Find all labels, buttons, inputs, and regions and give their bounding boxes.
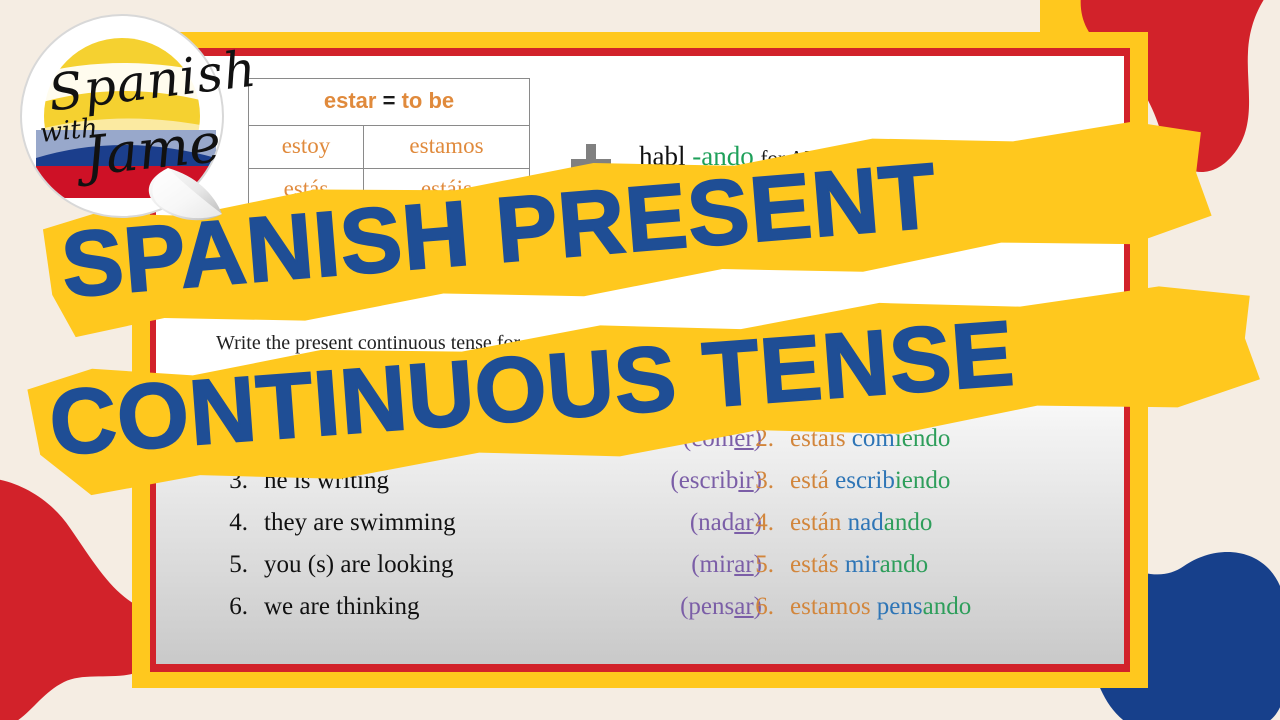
exercise-number: 1. [202, 376, 264, 418]
exercise-number: 5. [202, 544, 264, 586]
table-row: estoy estamos [249, 126, 530, 169]
answer-text: estás mirando [790, 544, 928, 586]
table-header-row: estar = to be [249, 79, 530, 126]
gerund-rule-text: for AR verbs [760, 146, 869, 170]
list-item: 3. he is writing (escribir) [202, 460, 762, 502]
answer-aux: estás [790, 551, 839, 578]
answer-text: estáis comiendo [790, 418, 950, 460]
list-item: 6. estamos pensando [732, 586, 1112, 628]
list-item: 5. you (s) are looking (mirar) [202, 544, 762, 586]
answer-text: está escribiendo [790, 460, 950, 502]
exercise-number: 2. [202, 418, 264, 460]
table-row: está están [249, 212, 530, 255]
worksheet-sheet: estar = to be estoy estamos estás estáis… [156, 56, 1124, 664]
channel-logo-sticker[interactable]: Spanish with Jame [18, 8, 240, 240]
answer-ending: iendo [895, 425, 951, 452]
exercise-english: we are thinking [264, 586, 680, 628]
exercise-english: I am talking [264, 376, 683, 418]
answer-number: 2. [732, 418, 790, 460]
estar-header-cell: estar = to be [249, 79, 530, 126]
list-item: 4. they are swimming (nadar) [202, 502, 762, 544]
gerund-rules: habl -ando for AR verbs com -iendo for E… [639, 136, 913, 220]
list-item: 1. estoy hablando [732, 376, 1112, 418]
answer-aux: estamos [790, 593, 871, 620]
estar-equals: = [383, 88, 396, 113]
exercise-english: you (s) are looking [264, 544, 691, 586]
answer-aux: está [790, 467, 829, 494]
list-item: 2. you (pl) are eating (comer) [202, 418, 762, 460]
thumbnail-canvas: estar = to be estoy estamos estás estáis… [0, 0, 1280, 720]
infinitive-stem: mir [700, 551, 735, 578]
answer-ending: iendo [895, 467, 951, 494]
conj-cell: estáis [363, 169, 529, 212]
worksheet-instruction: Write the present continuous tense for e… [216, 332, 1096, 355]
answer-stem: escrib [835, 467, 895, 494]
list-item: 5. estás mirando [732, 544, 1112, 586]
exercise-list: 1. I am talking (hablar) 2. you (pl) are… [202, 376, 762, 628]
answer-stem: pens [877, 593, 923, 620]
answer-ending: ando [880, 551, 929, 578]
gerund-stem: com [639, 183, 686, 213]
answer-text: estoy hablando [790, 376, 941, 418]
answer-ending: ando [923, 593, 972, 620]
answer-list: 1. estoy hablando 2. estáis comiendo 3. … [732, 376, 1112, 628]
exercise-english: he is writing [264, 460, 670, 502]
estar-verb: estar [324, 88, 377, 113]
list-item: 4. están nadando [732, 502, 1112, 544]
answer-aux: estáis [790, 425, 846, 452]
exercise-english: you (pl) are eating [264, 418, 683, 460]
answer-number: 3. [732, 460, 790, 502]
infinitive-stem: habl [691, 383, 734, 410]
list-item: 1. I am talking (hablar) [202, 376, 762, 418]
answer-stem: com [852, 425, 895, 452]
answer-stem: nad [848, 509, 884, 536]
gerund-stem: habl [639, 141, 686, 171]
answer-stem: mir [845, 551, 880, 578]
exercise-number: 6. [202, 586, 264, 628]
exercise-number: 3. [202, 460, 264, 502]
list-item: 6. we are thinking (pensar) [202, 586, 762, 628]
plus-icon [571, 144, 611, 184]
answer-number: 5. [732, 544, 790, 586]
infinitive-stem: escrib [679, 467, 739, 494]
infinitive-stem: pens [688, 593, 734, 620]
list-item: 2. estáis comiendo [732, 418, 1112, 460]
conj-cell: estoy [249, 126, 364, 169]
estar-meaning: to be [402, 88, 455, 113]
conj-cell: está [249, 212, 364, 255]
answer-text: están nadando [790, 502, 932, 544]
conj-cell: estás [249, 169, 364, 212]
infinitive-stem: com [691, 425, 734, 452]
answer-aux: estoy [790, 383, 843, 410]
infinitive-stem: nad [698, 509, 734, 536]
answer-number: 4. [732, 502, 790, 544]
gerund-ending: -iendo [692, 183, 761, 213]
list-item: 3. está escribiendo [732, 460, 1112, 502]
table-row: estás estáis [249, 169, 530, 212]
gerund-rule-erir: com -iendo for ER / IR verbs [639, 178, 913, 220]
answer-ending: ando [884, 509, 933, 536]
answer-number: 1. [732, 376, 790, 418]
exercise-english: they are swimming [264, 502, 690, 544]
gerund-rule-text: for ER / IR verbs [768, 188, 913, 212]
gerund-ending: -ando [692, 141, 753, 171]
answer-stem: habl [849, 383, 892, 410]
gerund-rule-ar: habl -ando for AR verbs [639, 136, 913, 178]
answer-number: 6. [732, 586, 790, 628]
answer-ending: ando [892, 383, 941, 410]
conj-cell: están [363, 212, 529, 255]
estar-conjugation-table: estar = to be estoy estamos estás estáis… [248, 78, 530, 255]
answer-text: estamos pensando [790, 586, 971, 628]
conj-cell: estamos [363, 126, 529, 169]
exercise-number: 4. [202, 502, 264, 544]
answer-aux: están [790, 509, 841, 536]
